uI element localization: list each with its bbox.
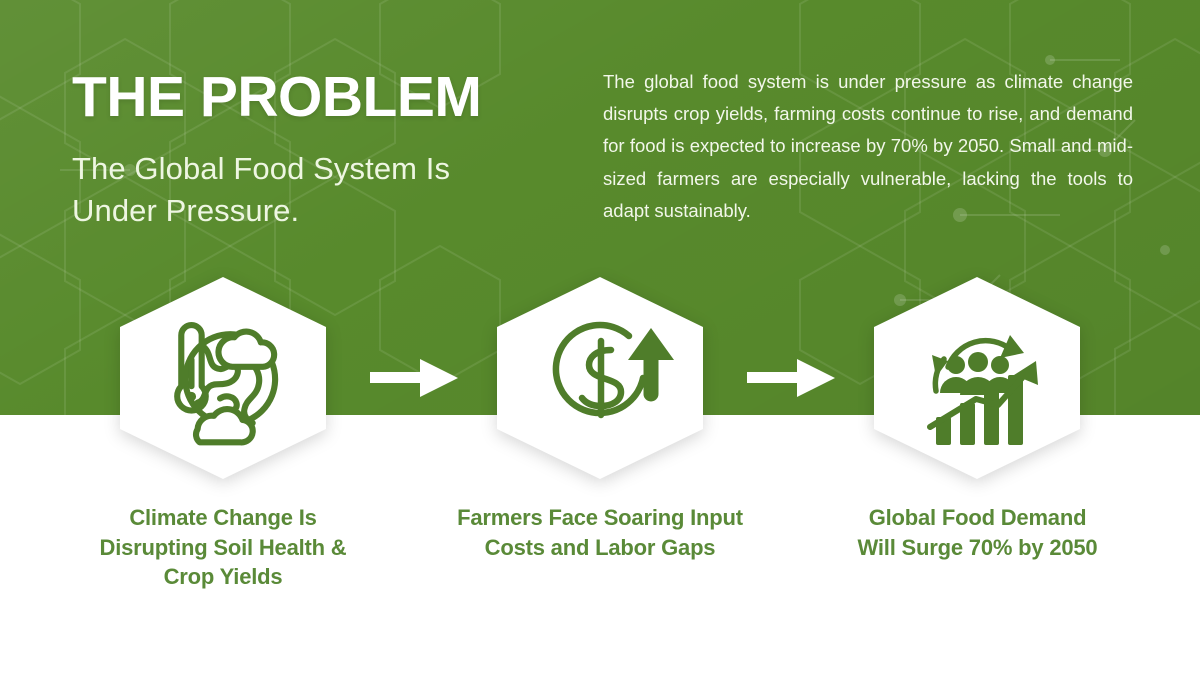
step-2-caption: Farmers Face Soaring Input Costs and Lab… xyxy=(445,503,755,562)
page-title: THE PROBLEM xyxy=(72,68,481,126)
step-1-hexagon[interactable] xyxy=(120,277,326,479)
arrow-right-icon xyxy=(370,355,460,401)
step-3-hexagon[interactable] xyxy=(874,277,1080,479)
step-1-caption: Climate Change Is Disrupting Soil Health… xyxy=(83,503,363,592)
flow-arrow-1 xyxy=(370,355,460,401)
arrow-right-icon xyxy=(747,355,837,401)
infographic-slide: THE PROBLEM The Global Food System Is Un… xyxy=(0,0,1200,675)
page-subtitle: The Global Food System Is Under Pressure… xyxy=(72,148,542,232)
step-2-hexagon[interactable] xyxy=(497,277,703,479)
step-3-caption: Global Food Demand Will Surge 70% by 205… xyxy=(855,503,1100,562)
hexagon-shape xyxy=(120,277,326,479)
flow-arrow-2 xyxy=(747,355,837,401)
intro-paragraph: The global food system is under pressure… xyxy=(603,66,1133,227)
